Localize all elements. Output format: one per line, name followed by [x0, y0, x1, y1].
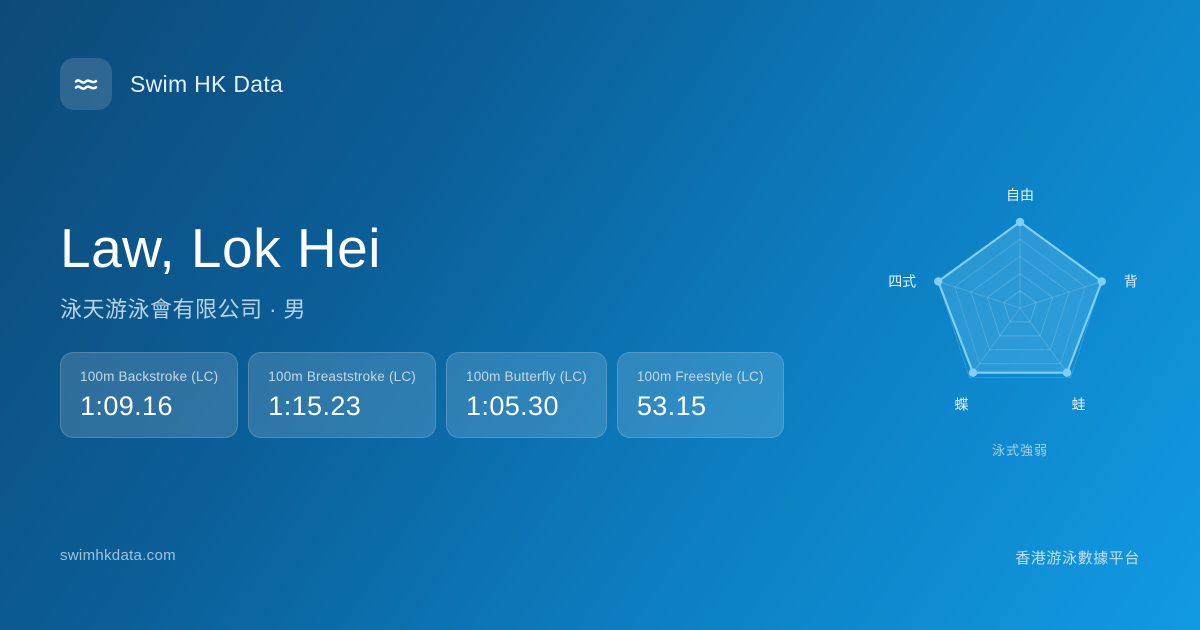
footer-tagline: 香港游泳數據平台 [1015, 547, 1140, 568]
stat-card-value: 1:09.16 [80, 391, 218, 422]
radar-svg: 自由 背 蛙 蝶 四式 [880, 168, 1160, 448]
stat-card-value: 1:15.23 [268, 391, 416, 422]
radar-caption: 泳式強弱 [880, 440, 1160, 459]
stat-card[interactable]: 100m Freestyle (LC) 53.15 [617, 352, 784, 438]
brand-header[interactable]: Swim HK Data [60, 58, 283, 110]
footer-site-url[interactable]: swimhkdata.com [60, 547, 176, 564]
radar-axis-label-freestyle: 自由 [1006, 187, 1034, 203]
radar-axis-label-backstroke: 背 [1124, 273, 1138, 289]
radar-axis-label-medley: 四式 [888, 273, 916, 289]
stat-card-value: 1:05.30 [466, 391, 587, 422]
stat-card-list: 100m Backstroke (LC) 1:09.16 100m Breast… [60, 352, 784, 438]
stat-card[interactable]: 100m Backstroke (LC) 1:09.16 [60, 352, 238, 438]
athlete-hero: Law, Lok Hei 泳天游泳會有限公司 · 男 [60, 218, 381, 324]
page-title: Law, Lok Hei [60, 218, 381, 280]
stat-card-label: 100m Backstroke (LC) [80, 369, 218, 384]
stat-card[interactable]: 100m Breaststroke (LC) 1:15.23 [248, 352, 436, 438]
radar-axis-label-breaststroke: 蛙 [1072, 397, 1086, 413]
radar-data-area [938, 222, 1102, 373]
stat-card[interactable]: 100m Butterfly (LC) 1:05.30 [446, 352, 607, 438]
radar-axis-label-butterfly: 蝶 [955, 397, 969, 413]
athlete-meta: 泳天游泳會有限公司 · 男 [60, 292, 381, 324]
stroke-strength-radar-chart: 自由 背 蛙 蝶 四式 泳式強弱 [880, 168, 1160, 468]
stat-card-value: 53.15 [637, 391, 764, 422]
stat-card-label: 100m Freestyle (LC) [637, 369, 764, 384]
stat-card-label: 100m Breaststroke (LC) [268, 369, 416, 384]
brand-name: Swim HK Data [130, 71, 283, 98]
wave-icon [60, 58, 112, 110]
stat-card-label: 100m Butterfly (LC) [466, 369, 587, 384]
